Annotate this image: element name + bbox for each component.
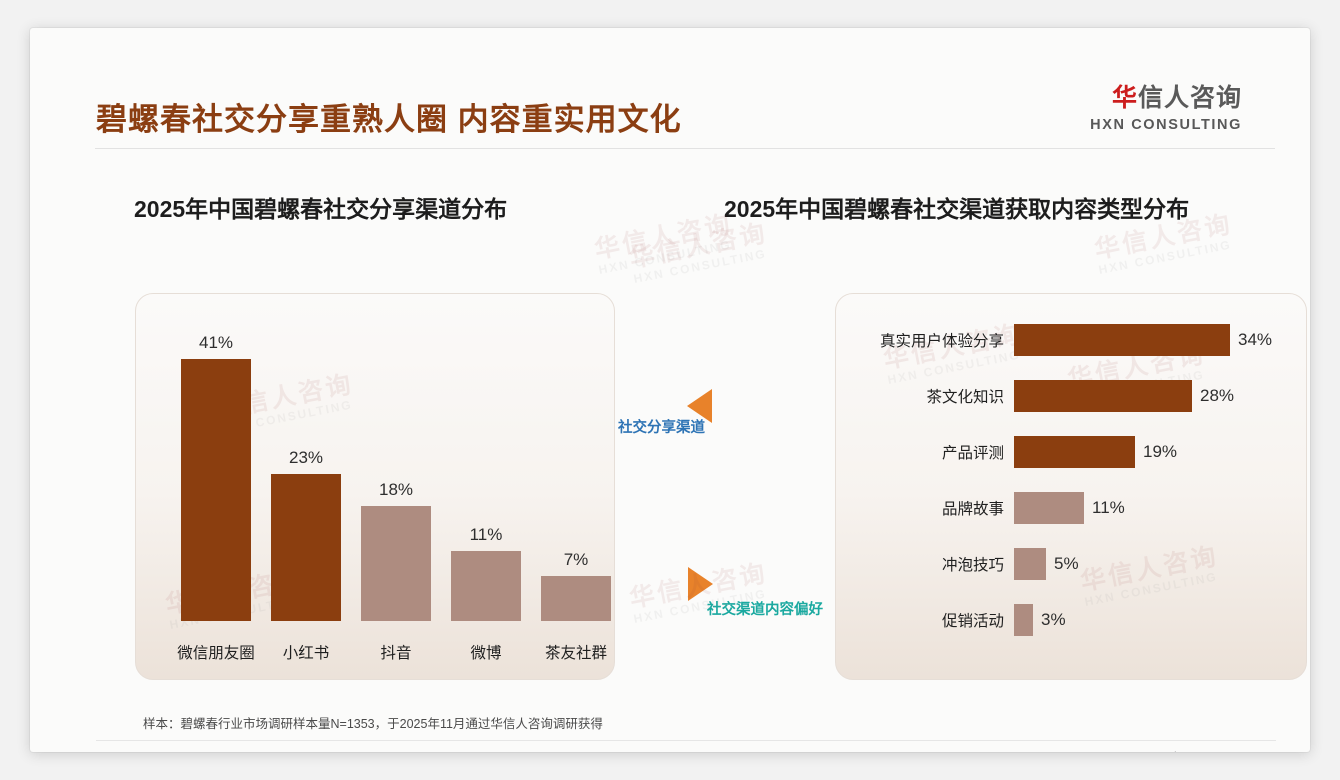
left-chart-title: 2025年中国碧螺春社交分享渠道分布	[134, 190, 507, 224]
watermark: 华信人咨询 HXN CONSULTING	[627, 220, 772, 286]
bar-category-label: 品牌故事	[942, 497, 1004, 519]
logo-red-character: 华	[1112, 84, 1138, 112]
right-chart-title: 2025年中国碧螺春社交渠道获取内容类型分布	[724, 190, 1189, 224]
bar-rect[interactable]	[271, 474, 341, 621]
bar-value-label: 7%	[541, 550, 611, 570]
bar-rect[interactable]	[451, 551, 521, 621]
bar-value-label: 19%	[1143, 442, 1177, 462]
vertical-bar-group: 23%小红书	[271, 474, 341, 621]
bar-rect[interactable]	[1014, 604, 1033, 636]
triangle-right-icon	[688, 567, 713, 601]
vertical-bar-group: 41%微信朋友圈	[181, 359, 251, 621]
bar-value-label: 11%	[1092, 498, 1125, 518]
bar-value-label: 5%	[1054, 554, 1079, 574]
horizontal-bar-row: 真实用户体验分享34%	[1014, 324, 1230, 356]
bar-value-label: 28%	[1200, 386, 1234, 406]
bar-value-label: 23%	[271, 448, 341, 468]
bar-category-label: 茶文化知识	[926, 385, 1004, 407]
header-divider	[95, 148, 1275, 149]
bar-rect[interactable]	[181, 359, 251, 621]
watermark-cn: 华信人咨询	[627, 220, 770, 273]
watermark-cn: 华信人咨询	[592, 211, 735, 264]
watermark: 华信人咨询 HXN CONSULTING	[592, 211, 737, 277]
watermark-en: HXN CONSULTING	[1098, 238, 1238, 277]
vertical-bar-group: 11%微博	[451, 551, 521, 621]
bar-value-label: 34%	[1238, 330, 1272, 350]
social-share-channel-label: 社交分享渠道	[618, 416, 705, 437]
bar-category-label: 真实用户体验分享	[880, 329, 1004, 351]
logo-chinese-text: 华信人咨询	[1090, 86, 1242, 111]
right-chart-panel: 华信人咨询 HXN CONSULTING 华信人咨询 HXN CONSULTIN…	[835, 293, 1307, 680]
brand-logo: 华信人咨询 HXN CONSULTING	[1090, 86, 1242, 133]
bar-value-label: 3%	[1041, 610, 1066, 630]
logo-chinese-rest: 信人咨询	[1138, 84, 1242, 112]
sample-note: 样本：碧螺春行业市场调研样本量N=1353，于2025年11月通过华信人咨询调研…	[143, 713, 603, 732]
bar-category-label: 冲泡技巧	[942, 553, 1004, 575]
vertical-bar-group: 18%抖音	[361, 506, 431, 621]
horizontal-bar-row: 冲泡技巧5%	[1014, 548, 1046, 580]
slide-canvas: 碧螺春社交分享重熟人圈 内容重实用文化 华信人咨询 HXN CONSULTING…	[30, 28, 1310, 752]
bar-rect[interactable]	[1014, 492, 1084, 524]
horizontal-bar-row: 茶文化知识28%	[1014, 380, 1192, 412]
bar-rect[interactable]	[1014, 380, 1192, 412]
bar-category-label: 促销活动	[942, 609, 1004, 631]
vertical-bar-group: 7%茶友社群	[541, 576, 611, 621]
left-chart-panel: 华信人咨询 HXN CONSULTING 华信人咨询 HXN CONSULTIN…	[135, 293, 615, 680]
logo-english-text: HXN CONSULTING	[1090, 118, 1242, 133]
horizontal-bar-row: 产品评测19%	[1014, 436, 1135, 468]
vertical-bar-chart: 41%微信朋友圈23%小红书18%抖音11%微博7%茶友社群	[136, 294, 614, 679]
watermark-en: HXN CONSULTING	[633, 247, 773, 286]
website-text: www.hxrcon.com	[1145, 749, 1236, 752]
page-title: 碧螺春社交分享重熟人圈 内容重实用文化	[96, 94, 682, 139]
content-preference-label: 社交渠道内容偏好	[707, 598, 823, 619]
bar-rect[interactable]	[1014, 324, 1230, 356]
horizontal-bar-chart: 真实用户体验分享34%茶文化知识28%产品评测19%品牌故事11%冲泡技巧5%促…	[836, 294, 1306, 679]
bar-category-label: 产品评测	[942, 441, 1004, 463]
bar-rect[interactable]	[541, 576, 611, 621]
bar-category-label: 茶友社群	[519, 641, 615, 663]
horizontal-bar-row: 促销活动3%	[1014, 604, 1033, 636]
footer-divider	[96, 740, 1276, 741]
bar-value-label: 41%	[181, 333, 251, 353]
bar-value-label: 11%	[451, 525, 521, 545]
bar-rect[interactable]	[1014, 436, 1135, 468]
horizontal-bar-row: 品牌故事11%	[1014, 492, 1084, 524]
bar-value-label: 18%	[361, 480, 431, 500]
bar-rect[interactable]	[361, 506, 431, 621]
copyright-text: ©2026.1 HXR华信人咨询	[104, 748, 244, 752]
watermark-en: HXN CONSULTING	[598, 238, 738, 277]
bar-rect[interactable]	[1014, 548, 1046, 580]
